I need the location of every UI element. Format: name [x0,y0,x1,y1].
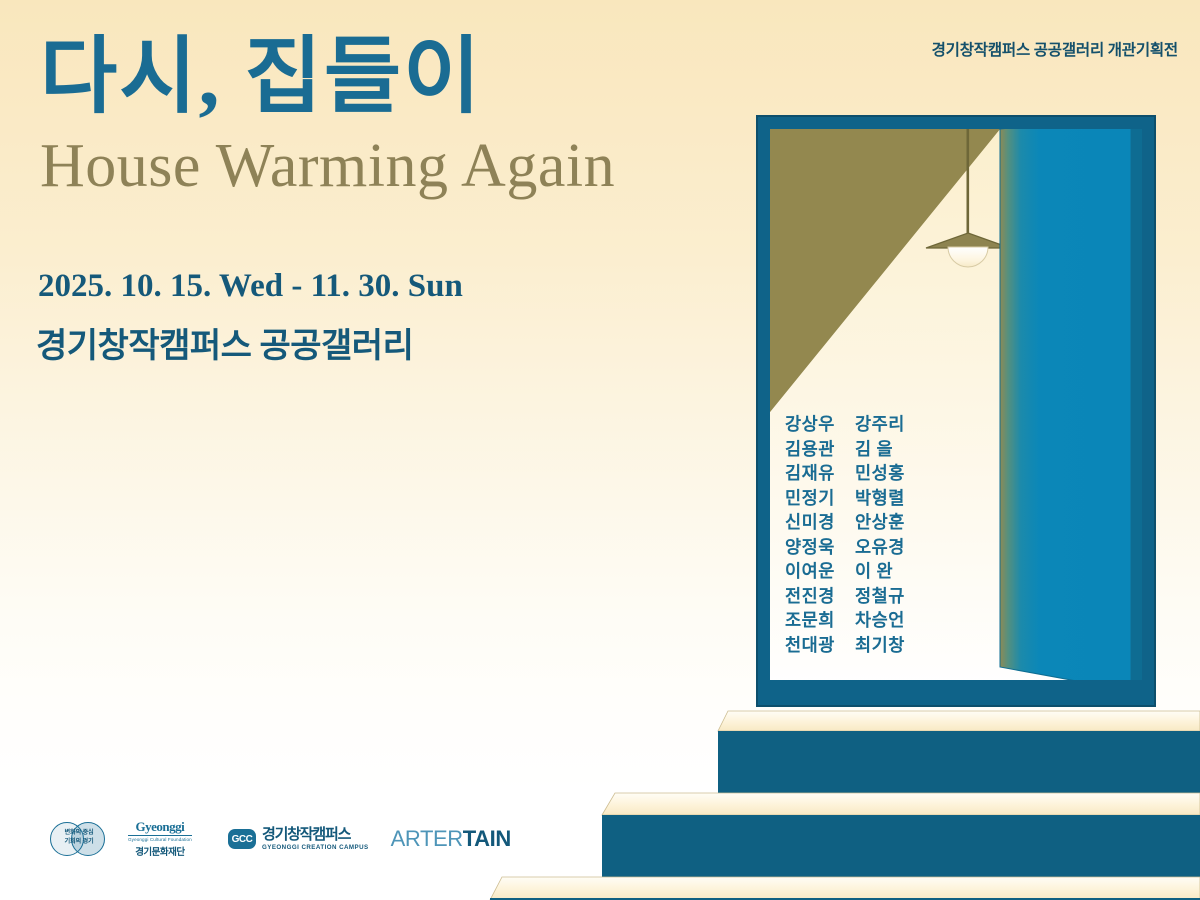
artist-row: 김재유민성홍 [785,461,935,486]
artist-row: 조문희차승언 [785,608,935,633]
steps [490,711,1200,900]
artist-row: 양정욱오유경 [785,535,935,560]
open-door-panel [1000,116,1142,691]
artist-name: 조문희 [785,608,841,633]
artist-name: 오유경 [855,535,911,560]
artist-row: 이여운이 완 [785,559,935,584]
artist-name: 양정욱 [785,535,841,560]
header-note: 경기창작캠퍼스 공공갤러리 개관기획전 [932,38,1178,60]
artist-name: 박형렬 [855,486,911,511]
artist-row: 천대광최기창 [785,633,935,658]
artertain-bold: TAIN [463,826,511,852]
gcf-script-mark: Gyeonggi [128,820,192,836]
gcc-korean-name: 경기창작캠퍼스 [262,827,369,843]
logo-gg-line2: 기회의 경기 [56,837,102,846]
artist-row: 강상우강주리 [785,412,935,437]
artist-name: 김용관 [785,437,841,462]
title-korean: 다시, 집들이 [40,36,482,120]
artist-name: 민성홍 [855,461,911,486]
artist-name: 김 을 [855,437,911,462]
logo-artertain: ARTERTAIN [391,818,511,860]
logo-gyeonggi-province: 변화의 중심 기회의 경기 [50,818,106,860]
artist-name: 전진경 [785,584,841,609]
artist-name: 민정기 [785,486,841,511]
artist-name: 최기창 [855,633,911,658]
artist-row: 김용관김 을 [785,437,935,462]
artist-name: 이 완 [855,559,911,584]
gcf-korean-name: 경기문화재단 [128,844,192,858]
artist-name: 이여운 [785,559,841,584]
artist-name-list: 강상우강주리김용관김 을김재유민성홍민정기박형렬신미경안상훈양정욱오유경이여운이… [785,412,935,657]
artist-name: 차승언 [855,608,911,633]
artist-name: 안상훈 [855,510,911,535]
artist-name: 강주리 [855,412,911,437]
exhibition-poster: 강상우강주리김용관김 을김재유민성홍민정기박형렬신미경안상훈양정욱오유경이여운이… [0,0,1200,900]
artist-name: 강상우 [785,412,841,437]
artist-row: 전진경정철규 [785,584,935,609]
logo-gyeonggi-creation-campus: GCC 경기창작캠퍼스 GYEONGGI CREATION CAMPUS [228,818,369,860]
gcc-english-name: GYEONGGI CREATION CAMPUS [262,844,369,851]
logo-gg-line1: 변화의 중심 [56,828,102,837]
sponsor-logo-row: 변화의 중심 기회의 경기 Gyeonggi Gyeonggi Cultural… [50,818,511,860]
artist-name: 정철규 [855,584,911,609]
gcf-sub-text: Gyeonggi Cultural Foundation [128,837,192,842]
gcc-badge-icon: GCC [228,829,256,849]
logo-gyeonggi-cultural-foundation: Gyeonggi Gyeonggi Cultural Foundation 경기… [128,818,206,860]
artist-name: 김재유 [785,461,841,486]
gyeonggi-province-mark: 변화의 중심 기회의 경기 [50,822,106,856]
artist-row: 민정기박형렬 [785,486,935,511]
artist-name: 천대광 [785,633,841,658]
exhibition-venue: 경기창작캠퍼스 공공갤러리 [36,318,413,367]
title-english: House Warming Again [40,134,615,199]
artist-row: 신미경안상훈 [785,510,935,535]
exhibition-date-range: 2025. 10. 15. Wed - 11. 30. Sun [38,268,463,305]
artist-name: 신미경 [785,510,841,535]
artertain-light: ARTER [391,826,463,852]
